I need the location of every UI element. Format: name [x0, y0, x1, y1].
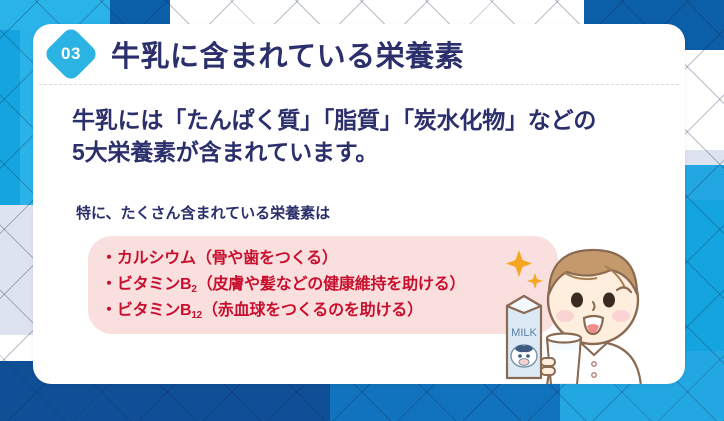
nutrient-name: ビタミンB	[117, 302, 192, 319]
content-card: 03 牛乳に含まれている栄養素 牛乳には「たんぱく質」「脂質」「炭水化物」などの…	[33, 24, 685, 384]
boy-drinking-milk-illustration: MILK	[489, 238, 679, 384]
nutrient-detail: （皮膚や髪などの健康維持を助ける）	[197, 276, 466, 293]
section-number-label: 03	[51, 34, 91, 74]
nutrient-subscript: 2	[191, 284, 196, 295]
cheek-right	[612, 310, 630, 322]
bg-shape-right-cyan-2	[684, 200, 724, 360]
lead-line-1: 牛乳には「たんぱく質」「脂質」「炭水化物」などの	[72, 105, 672, 137]
bullet-marker: ・	[101, 250, 117, 267]
bullet-marker: ・	[101, 276, 117, 293]
bullet-marker: ・	[101, 302, 117, 319]
header-divider	[39, 84, 679, 85]
milk-carton-icon: MILK	[507, 296, 541, 378]
nutrient-detail: （赤血球をつくるのを助ける）	[202, 302, 423, 319]
eye-left	[571, 293, 583, 308]
lead-paragraph: 牛乳には「たんぱく質」「脂質」「炭水化物」などの 5大栄養素が含まれています。	[72, 105, 672, 168]
nutrient-name: カルシウム	[117, 250, 196, 267]
page-title: 牛乳に含まれている栄養素	[111, 33, 464, 75]
boy-face	[548, 250, 638, 344]
hand-icon	[541, 358, 555, 375]
lead-line-2: 5大栄養素が含まれています。	[72, 137, 672, 169]
eye-right	[603, 293, 615, 308]
nutrient-name: ビタミンB	[117, 276, 192, 293]
cheek-left	[556, 310, 574, 322]
milk-carton-label: MILK	[511, 327, 537, 339]
nutrient-detail: （骨や歯をつくる）	[196, 250, 338, 267]
cow-face-icon	[511, 345, 537, 367]
card-header: 03 牛乳に含まれている栄養素	[33, 24, 685, 82]
sparkle-icon	[506, 250, 543, 289]
nutrient-subscript: 12	[191, 310, 202, 321]
subheading: 特に、たくさん含まれている栄養素は	[76, 202, 330, 223]
bg-shape-top-left-cyan-2	[0, 30, 20, 230]
